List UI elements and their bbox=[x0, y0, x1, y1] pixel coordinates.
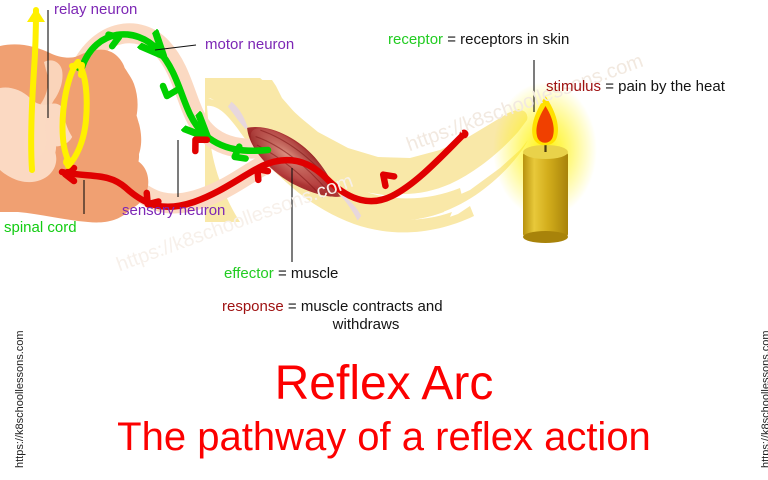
definition-response-text: = muscle contracts and bbox=[288, 298, 443, 315]
label-sensory-neuron: sensory neuron bbox=[122, 203, 225, 219]
definition-stimulus: stimulus = pain by the heat bbox=[546, 78, 725, 96]
label-spinal-cord: spinal cord bbox=[4, 220, 77, 236]
page-subtitle: The pathway of a reflex action bbox=[0, 415, 768, 460]
label-relay-neuron: relay neuron bbox=[54, 2, 137, 18]
definition-receptor: receptor = receptors in skin bbox=[388, 31, 569, 49]
term-response: response bbox=[222, 298, 284, 315]
candle-bottom bbox=[523, 231, 568, 243]
term-receptor: receptor bbox=[388, 31, 443, 48]
reflex-arc-diagram: https://k8schoollessons.com https://k8sc… bbox=[0, 0, 768, 480]
definition-effector: effector = muscle bbox=[224, 265, 338, 283]
label-motor-neuron: motor neuron bbox=[205, 37, 294, 53]
definition-effector-text: = muscle bbox=[278, 265, 338, 282]
candle-body bbox=[523, 152, 568, 237]
receptor-nerve-ending bbox=[460, 130, 469, 139]
term-stimulus: stimulus bbox=[546, 78, 601, 95]
relay-neuron-arrowhead-up bbox=[27, 8, 45, 22]
definition-response: response = muscle contracts and withdraw… bbox=[222, 298, 482, 333]
relay-neuron-synapse-lower bbox=[63, 157, 73, 167]
page-title: Reflex Arc bbox=[0, 356, 768, 411]
definition-response-text-line2: withdraws bbox=[222, 316, 482, 334]
candle bbox=[493, 82, 597, 243]
term-effector: effector bbox=[224, 265, 274, 282]
definition-receptor-text: = receptors in skin bbox=[447, 31, 569, 48]
definition-stimulus-text: = pain by the heat bbox=[605, 78, 725, 95]
